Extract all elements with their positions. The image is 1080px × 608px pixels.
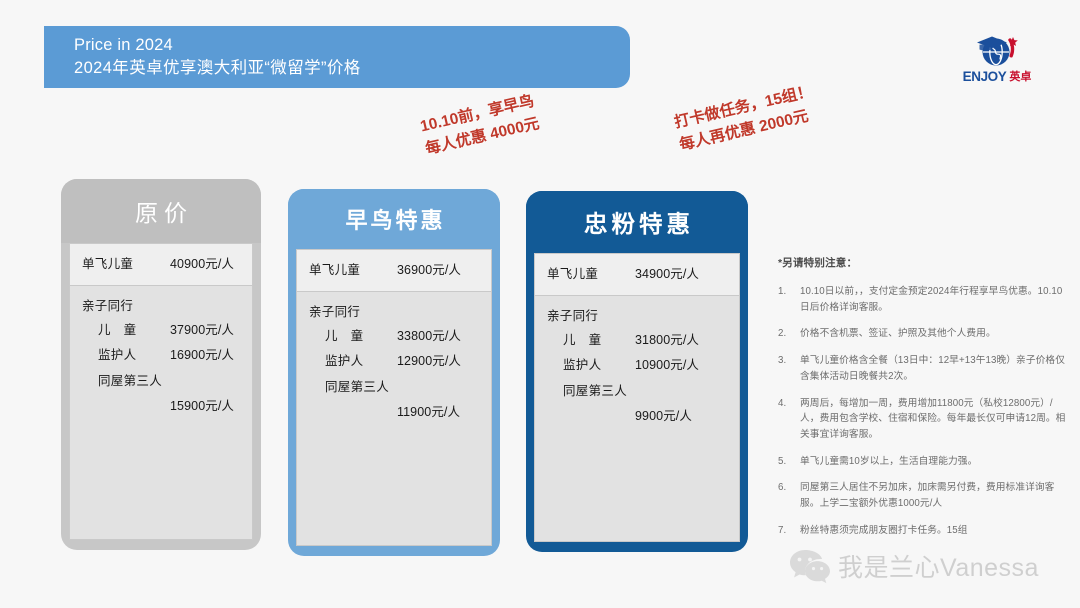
row-label: 儿 童 [547, 334, 635, 347]
row-label: 儿 童 [309, 330, 397, 343]
price-row: 监护人 16900元/人 [82, 349, 240, 362]
row-value: 34900元/人 [635, 268, 727, 281]
note-text: 粉丝特惠须完成朋友圈打卡任务。15组 [800, 523, 1068, 539]
logo-globe-graduation-cap-icon [969, 31, 1025, 69]
note-number: 5. [778, 454, 800, 470]
row-label: 同屋第三人 [82, 375, 170, 388]
price-row: 儿 童 37900元/人 [82, 324, 240, 337]
price-card-loyal-fan: 忠粉特惠 单飞儿童 34900元/人 亲子同行 儿 童 31800元/人 监护人 [526, 191, 748, 552]
watermark-text: 我是兰心Vanessa [838, 556, 1039, 581]
logo-wordmark: ENJOY 英卓 [963, 70, 1032, 84]
price-row: 监护人 12900元/人 [309, 355, 479, 368]
solo-child-pane: 单飞儿童 36900元/人 [297, 250, 491, 292]
row-value: 11900元/人 [397, 406, 479, 419]
price-card-loyal-fan-body: 单飞儿童 34900元/人 亲子同行 儿 童 31800元/人 监护人 1090… [534, 253, 740, 542]
price-card-original: 原价 单飞儿童 40900元/人 亲子同行 儿 童 37900元/人 监护人 1… [61, 179, 261, 550]
note-item: 2. 价格不含机票、签证、护照及其他个人费用。 [778, 326, 1068, 342]
price-row: 同屋第三人 [309, 381, 479, 394]
family-pane: 亲子同行 儿 童 31800元/人 监护人 10900元/人 同屋第三人 . 9… [535, 296, 739, 541]
price-row: 同屋第三人 [547, 385, 727, 398]
note-number: 1. [778, 284, 800, 315]
price-card-early-bird: 早鸟特惠 单飞儿童 36900元/人 亲子同行 儿 童 33800元/人 监护人 [288, 189, 500, 556]
price-row: . 15900元/人 [82, 400, 240, 413]
price-row: 儿 童 33800元/人 [309, 330, 479, 343]
note-item: 1. 10.10日以前，，支付定金预定2024年行程享早鸟优惠。10.10日后价… [778, 284, 1068, 315]
row-value: 36900元/人 [397, 264, 479, 277]
row-value: 31800元/人 [635, 334, 727, 347]
family-pane: 亲子同行 儿 童 33800元/人 监护人 12900元/人 同屋第三人 . 1… [297, 292, 491, 545]
note-text: 同屋第三人居住不另加床，加床需另付费，费用标准详询客服。上学二宝额外优惠1000… [800, 480, 1068, 511]
enjoy-logo: ENJOY 英卓 [942, 26, 1052, 88]
promo-note-loyal-fan: 打卡做任务，15组！ 每人再优惠 2000元 [672, 80, 820, 157]
note-number: 4. [778, 396, 800, 443]
price-card-early-bird-body: 单飞儿童 36900元/人 亲子同行 儿 童 33800元/人 监护人 1290… [296, 249, 492, 546]
title-banner: Price in 2024 2024年英卓优享澳大利亚“微留学”价格 [44, 26, 630, 88]
logo-text-cn: 英卓 [1009, 72, 1031, 83]
note-item: 6. 同屋第三人居住不另加床，加床需另付费，费用标准详询客服。上学二宝额外优惠1… [778, 480, 1068, 511]
note-number: 6. [778, 480, 800, 511]
note-number: 7. [778, 523, 800, 539]
note-text: 单飞儿童价格含全餐（13日中：12早+13午13晚）亲子价格仅含集体活动日晚餐共… [800, 353, 1068, 384]
row-value: 40900元/人 [170, 258, 240, 271]
row-label: 单飞儿童 [547, 268, 635, 281]
note-item: 4. 两周后，每增加一周，费用增加11800元（私校12800元）/人，费用包含… [778, 396, 1068, 443]
row-value: 12900元/人 [397, 355, 479, 368]
promo-note-early-bird: 10.10前，享早鸟 每人优惠 4000元 [418, 90, 542, 161]
row-label: 同屋第三人 [309, 381, 397, 394]
title-english: Price in 2024 [74, 34, 630, 57]
slide-canvas: Price in 2024 2024年英卓优享澳大利亚“微留学”价格 ENJOY… [0, 0, 1080, 608]
note-text: 单飞儿童需10岁以上，生活自理能力强。 [800, 454, 1068, 470]
price-row: . 11900元/人 [309, 406, 479, 419]
row-value: 10900元/人 [635, 359, 727, 372]
price-card-loyal-fan-title: 忠粉特惠 [526, 191, 748, 253]
notes-title: *另请特别注意： [778, 255, 1068, 270]
family-group-title: 亲子同行 [547, 310, 727, 323]
note-text: 价格不含机票、签证、护照及其他个人费用。 [800, 326, 1068, 342]
family-group-title: 亲子同行 [309, 306, 479, 319]
note-text: 10.10日以前，，支付定金预定2024年行程享早鸟优惠。10.10日后价格详询… [800, 284, 1068, 315]
notes-list: 1. 10.10日以前，，支付定金预定2024年行程享早鸟优惠。10.10日后价… [778, 284, 1068, 539]
price-row: 监护人 10900元/人 [547, 359, 727, 372]
price-row: 同屋第三人 [82, 375, 240, 388]
row-value: 33800元/人 [397, 330, 479, 343]
note-item: 3. 单飞儿童价格含全餐（13日中：12早+13午13晚）亲子价格仅含集体活动日… [778, 353, 1068, 384]
logo-text-en: ENJOY [963, 70, 1007, 84]
watermark: 我是兰心Vanessa [788, 548, 1039, 589]
note-text: 两周后，每增加一周，费用增加11800元（私校12800元）/人，费用包含学校、… [800, 396, 1068, 443]
price-row: 儿 童 31800元/人 [547, 334, 727, 347]
row-label: 亲子同行 [309, 306, 360, 319]
price-row: 单飞儿童 36900元/人 [309, 264, 479, 277]
family-pane: 亲子同行 儿 童 37900元/人 监护人 16900元/人 同屋第三人 . 1… [70, 286, 252, 539]
wechat-icon [788, 548, 832, 589]
row-value: 37900元/人 [170, 324, 240, 337]
price-card-original-title: 原价 [61, 179, 261, 243]
row-label: 亲子同行 [547, 310, 598, 323]
note-item: 7. 粉丝特惠须完成朋友圈打卡任务。15组 [778, 523, 1068, 539]
row-label: 单飞儿童 [82, 258, 170, 271]
row-value: 16900元/人 [170, 349, 240, 362]
row-value: 15900元/人 [170, 400, 240, 413]
notes-panel: *另请特别注意： 1. 10.10日以前，，支付定金预定2024年行程享早鸟优惠… [778, 255, 1068, 550]
price-row: 单飞儿童 40900元/人 [82, 258, 240, 271]
price-row: . 9900元/人 [547, 410, 727, 423]
row-label: 单飞儿童 [309, 264, 397, 277]
row-label: 亲子同行 [82, 300, 133, 313]
row-label: 儿 童 [82, 324, 170, 337]
row-value: 9900元/人 [635, 410, 727, 423]
note-number: 2. [778, 326, 800, 342]
price-card-original-body: 单飞儿童 40900元/人 亲子同行 儿 童 37900元/人 监护人 1690… [69, 243, 253, 540]
row-label: 监护人 [82, 349, 170, 362]
title-chinese: 2024年英卓优享澳大利亚“微留学”价格 [74, 57, 630, 80]
solo-child-pane: 单飞儿童 40900元/人 [70, 244, 252, 286]
family-group-title: 亲子同行 [82, 300, 240, 313]
row-label: 同屋第三人 [547, 385, 635, 398]
solo-child-pane: 单飞儿童 34900元/人 [535, 254, 739, 296]
note-item: 5. 单飞儿童需10岁以上，生活自理能力强。 [778, 454, 1068, 470]
row-label: 监护人 [309, 355, 397, 368]
price-card-early-bird-title: 早鸟特惠 [288, 189, 500, 249]
note-number: 3. [778, 353, 800, 384]
row-label: 监护人 [547, 359, 635, 372]
price-row: 单飞儿童 34900元/人 [547, 268, 727, 281]
